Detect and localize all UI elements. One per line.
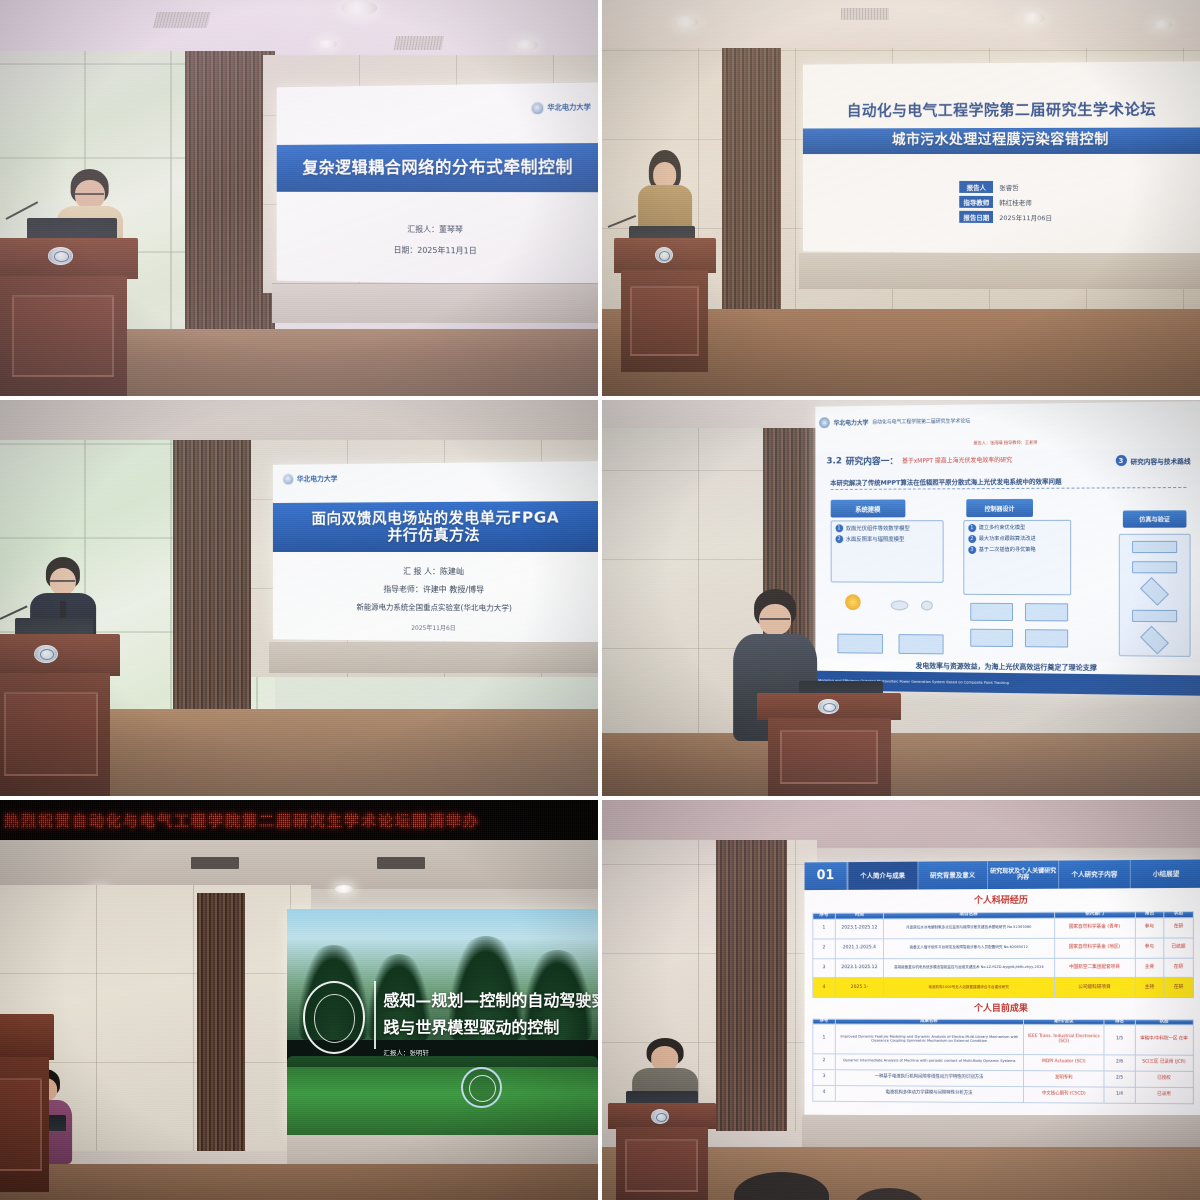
ceiling-vent-icon (393, 36, 443, 50)
cell-venue: IEEE Trans. Industrial Electronics (SCI) (1024, 1025, 1104, 1055)
glasses-icon (75, 193, 104, 195)
sun-icon (846, 594, 861, 610)
cell-rank: 1/4 (1104, 1086, 1135, 1102)
flow-node (1133, 561, 1178, 573)
presenter-name: 张明轩 (409, 1049, 429, 1057)
right-group-title: 仿真与验证 (1123, 510, 1187, 528)
flow-decision (1140, 625, 1169, 654)
slide-title-line2: 并行仿真方法 (387, 527, 480, 544)
header-forum-text: 自动化与电气工程学院第二届研究生学术论坛 (873, 418, 971, 426)
title-divider (374, 981, 376, 1049)
cell-time: 2025.1- (835, 978, 884, 998)
research-outputs-table: 序号 成果名称 期刊/会议 排名 状态 1 Improved Dynamic F… (813, 1018, 1194, 1104)
cell-time: 2021.1-2025.4 (835, 938, 884, 958)
nav-badge: 01 (805, 862, 848, 890)
th-role: 角色 (1135, 911, 1164, 917)
podium-panel (625, 1139, 698, 1192)
podium (608, 1103, 716, 1200)
research-projects-table: 序号 时间 项目名称 依托部门 角色 状态 1 2023.1-2025.12 月 (813, 911, 1194, 999)
podium-panel (0, 1078, 42, 1170)
section-badge: 3 (1116, 455, 1127, 466)
university-wordmark: 华北电力大学 (547, 103, 590, 114)
projection-screen: 自动化与电气工程学院第二届研究生学术论坛 城市污水处理过程膜污染容错控制 报告人… (803, 62, 1200, 255)
date-label: 日期： (394, 246, 418, 255)
cell-output-name: Improved Dynamic Feature Modeling and Dy… (835, 1024, 1024, 1054)
section-number: 3.2 (827, 456, 842, 466)
cloud-icon (921, 600, 933, 610)
nav-item-profile[interactable]: 个人简介与成果 (848, 861, 918, 889)
th-venue: 期刊/会议 (1024, 1019, 1104, 1025)
floor (602, 733, 1200, 796)
podium-panel (12, 295, 114, 377)
ceiling-vent-icon (191, 857, 239, 869)
podium (0, 1014, 54, 1192)
nav-item-status[interactable]: 研究现状及个人关键研究内容 (988, 860, 1059, 888)
photo-collage: 华北电力大学 复杂逻辑耦合网络的分布式牵制控制 汇报人：董琴琴 日期：2025年… (0, 0, 1200, 1200)
title-slide: 华北电力大学 面向双馈风电场站的发电单元FPGA 并行仿真方法 汇 报 人：陈建… (273, 461, 598, 643)
cell-project: 高端装备复杂机电系统多模态智能监控与运维关键技术 No.LZ-YSZD-bygj… (884, 958, 1054, 978)
affiliation-line: 新能源电力系统全国重点实验室(华北电力大学) (273, 601, 598, 614)
meta-value: 韩红桂老师 (1000, 197, 1033, 207)
lead-text: 本研究解决了传统MPPT算法在低辐照平原分散式海上光伏发电系统中的效率问题 (831, 475, 1187, 490)
cell-status: 已结题 (1164, 937, 1193, 957)
section-badge-text: 研究内容与技术路线 (1131, 455, 1191, 466)
bullet-number: 3 (968, 546, 976, 554)
cell-rank: 1/5 (1104, 1025, 1135, 1054)
university-seal-icon (531, 102, 544, 115)
bullet-text: 最大功率点跟踪算法改进 (979, 535, 1036, 542)
advisor-name: 许建中 教授/博导 (423, 585, 484, 594)
university-logo: 华北电力大学 (282, 473, 337, 485)
section-title: 研究内容一： (846, 454, 898, 467)
projection-screen: 01 个人简介与成果 研究背景及意义 研究现状及个人关键研究内容 个人研究子内容… (805, 859, 1200, 1116)
slide-title-band: 城市污水处理过程膜污染容错控制 (803, 127, 1200, 154)
cell-role: 参与 (1135, 917, 1164, 937)
presenter-label: 汇报人： (383, 1049, 409, 1057)
led-banner-text: 热烈祝贺自动化与电气工程学院第二届研究生学术论坛圆满举办 (0, 810, 480, 831)
cell-status: 已录用 (1135, 1087, 1193, 1104)
presenter-name: 董琴琴 (439, 225, 463, 234)
title-slide: 华北电力大学 复杂逻辑耦合网络的分布式牵制控制 汇报人：董琴琴 日期：2025年… (277, 83, 598, 286)
podium (757, 693, 901, 796)
flow-node (1133, 610, 1178, 622)
cell-status: 在研 (1164, 957, 1193, 977)
header-presenter-text: 报告人：张雨晴 指导教师：王老师 (974, 440, 1038, 447)
cell-index: 4 (813, 978, 835, 998)
cell-status: 在研 (1164, 917, 1193, 937)
university-wordmark: 华北电力大学 (297, 474, 338, 484)
bullet-number: 1 (968, 524, 976, 532)
wood-slat-column (197, 893, 245, 1152)
section-heading: 3.2 研究内容一： 基于xMPPT 提高上海光伏发电效率的研究 (827, 453, 1013, 467)
bullet-item: 2水面反照率与辐照度模型 (835, 535, 939, 543)
cell-status: 审稿中/中科院一区 在审 (1135, 1025, 1193, 1055)
screen-base-panel (799, 253, 1200, 289)
downlight-icon (335, 885, 353, 893)
cell-time: 2023.1-2025.12 (835, 958, 884, 978)
bullet-text: 水面反照率与辐照度模型 (846, 535, 905, 543)
table-row: 1 Improved Dynamic Feature Modeling and … (813, 1024, 1193, 1054)
wood-slat-column (185, 51, 275, 356)
cell-rank: 2/6 (1104, 1054, 1135, 1070)
ceiling-vent-icon (153, 12, 211, 28)
diagram-node (971, 603, 1013, 621)
cell-project: 电液机构1000号无人站数据建模综合平台建设研究 (884, 978, 1054, 998)
date-value: 2025年11月1日 (417, 246, 477, 256)
cell-index: 4 (813, 1085, 835, 1101)
wood-slat-column (722, 48, 782, 313)
cell-rank: 2/5 (1104, 1070, 1135, 1086)
downlight-icon (341, 0, 377, 16)
photo-title-slide: 感知—规划—控制的自动驾驶实 践与世界模型驱动的控制 汇报人：张明轩 (287, 909, 598, 1135)
podium-emblem-icon (818, 699, 840, 713)
header-logo-text: 华北电力大学 (834, 418, 869, 427)
forum-header: 自动化与电气工程学院第二届研究生学术论坛 (803, 98, 1200, 121)
cell-venue: 中文核心期刊 (CSCD) (1024, 1086, 1104, 1103)
presenter-line: 汇报人：张明轩 (383, 1047, 429, 1057)
university-logo: 华北电力大学 (531, 101, 591, 115)
table2-title: 个人目前成果 (805, 1000, 1200, 1013)
bullet-item: 2最大功率点跟踪算法改进 (968, 534, 1067, 542)
table-row: 1 2023.1-2025.12 月面原位水冰电解制氧多点位监测与故障诊断关键技… (813, 917, 1193, 938)
panel-5-bottom-left: 热烈祝贺自动化与电气工程学院第二届研究生学术论坛圆满举办 感知—规划—控制的自动… (0, 800, 598, 1200)
head (651, 1046, 679, 1070)
downlight-icon (1021, 12, 1045, 24)
cell-index: 1 (813, 918, 835, 938)
cell-index: 2 (813, 1053, 835, 1069)
left-group-title: 系统建模 (831, 500, 906, 517)
bullet-number: 2 (835, 535, 843, 543)
cell-department: 国家自然科学基金 (地区) (1055, 937, 1136, 957)
table-row-highlighted: 4 2025.1- 电液机构1000号无人站数据建模综合平台建设研究 公司级科研… (813, 977, 1193, 997)
cell-index: 3 (813, 958, 835, 978)
section-badge-group: 3 研究内容与技术路线 (1116, 454, 1191, 466)
screen-base-panel (272, 283, 598, 323)
th-status: 状态 (1164, 911, 1193, 917)
led-banner: 热烈祝贺自动化与电气工程学院第二届研究生学术论坛圆满举办 (0, 800, 598, 840)
title-slide: 自动化与电气工程学院第二届研究生学术论坛 城市污水处理过程膜污染容错控制 报告人… (803, 62, 1200, 255)
lawn (287, 1067, 598, 1135)
cell-role: 主持 (1135, 977, 1164, 997)
wood-slat-column (173, 440, 251, 725)
cloud-icon (891, 600, 909, 610)
th-time: 时间 (835, 913, 884, 919)
flow-node (1133, 541, 1178, 553)
th-index: 序号 (813, 1019, 835, 1025)
cell-role: 参与 (1135, 937, 1164, 957)
meta-value: 张睿哲 (1000, 182, 1019, 192)
meta-value: 2025年11月06日 (1000, 212, 1053, 222)
th-index: 序号 (813, 913, 835, 919)
podium-panel (630, 286, 699, 356)
diagram-node (1025, 604, 1068, 622)
meta-label: 报告日期 (960, 211, 994, 223)
presenter-line: 汇 报 人：陈建屾 (273, 566, 598, 578)
date-line: 日期：2025年11月1日 (277, 244, 598, 258)
table1-title: 个人科研经历 (805, 891, 1200, 906)
speaker-figure (638, 154, 692, 233)
projection-screen: 华北电力大学 复杂逻辑耦合网络的分布式牵制控制 汇报人：董琴琴 日期：2025年… (277, 83, 598, 286)
table-row: 2 2021.1-2025.4 装备无人值守软件平台研发及故障智能诊断与人员配置… (813, 937, 1193, 958)
table-slide: 01 个人简介与成果 研究背景及意义 研究现状及个人关键研究内容 个人研究子内容… (805, 859, 1200, 1116)
slide-title-line1: 感知—规划—控制的自动驾驶实 (383, 991, 598, 1011)
glasses-icon (50, 580, 75, 582)
advisor-line: 指导老师：许建中 教授/博导 (273, 584, 598, 597)
podium-emblem-icon (48, 247, 73, 264)
cell-status: 在研 (1164, 977, 1193, 997)
meta-label: 指导教师 (960, 196, 994, 208)
floor (0, 1164, 598, 1200)
cell-output-name: 一种基于电液执行机构间隙非线性动力学特性的识别方法 (835, 1069, 1024, 1086)
nav-item-subcontent[interactable]: 个人研究子内容 (1059, 860, 1130, 889)
bullet-number: 1 (835, 524, 843, 532)
presenter-label: 汇 报 人： (403, 568, 440, 577)
bullet-item: 3基于二次插值的寻优策略 (968, 546, 1067, 554)
led-video-wall: 感知—规划—控制的自动驾驶实 践与世界模型驱动的控制 汇报人：张明轩 (287, 909, 598, 1135)
table-row: 4 电液机构多体动力学建模与间隙特性分析方法 中文核心期刊 (CSCD) 1/4… (813, 1085, 1193, 1103)
podium-panel (780, 730, 878, 784)
cell-venue: 发明专利 (1024, 1070, 1104, 1087)
slide-meta-block: 报告人 张睿哲 指导教师 韩红桂老师 报告日期 2025年11月06日 (960, 181, 1052, 226)
bullet-item: 1双面光伏组件等效数学模型 (835, 524, 939, 532)
cell-department: 国家自然科学基金 (青年) (1055, 917, 1136, 937)
panel-1-top-left: 华北电力大学 复杂逻辑耦合网络的分布式牵制控制 汇报人：董琴琴 日期：2025年… (0, 0, 598, 396)
th-department: 依托部门 (1055, 911, 1136, 917)
diagram-node (898, 634, 944, 654)
meta-row: 指导教师 韩红桂老师 (960, 196, 1052, 208)
meta-row: 报告日期 2025年11月06日 (960, 211, 1052, 223)
projection-screen: 华北电力大学 面向双馈风电场站的发电单元FPGA 并行仿真方法 汇 报 人：陈建… (273, 461, 598, 643)
ceiling-vent-icon (841, 8, 889, 20)
flowchart-box (1119, 534, 1191, 658)
date-line: 2025年11月6日 (273, 622, 598, 634)
downlight-icon (674, 16, 698, 28)
section-subtitle: 基于xMPPT 提高上海光伏发电效率的研究 (902, 455, 1012, 465)
cell-status: 已授权 (1135, 1070, 1193, 1087)
cell-department: 公司级科研项目 (1055, 977, 1136, 997)
flow-decision (1140, 577, 1169, 606)
meta-label: 报告人 (960, 181, 994, 193)
presenter-name: 陈建屾 (440, 568, 464, 577)
slide-title: 复杂逻辑耦合网络的分布式牵制控制 (302, 159, 573, 178)
cell-index: 3 (813, 1069, 835, 1085)
meta-row: 报告人 张睿哲 (960, 181, 1052, 193)
presenter-line: 汇报人：董琴琴 (277, 223, 598, 236)
wood-slat-column (716, 840, 788, 1131)
secondary-seal-icon (461, 1067, 501, 1108)
diagram-node (838, 634, 883, 654)
nav-item-summary[interactable]: 小结展望 (1130, 859, 1200, 888)
mid-group-box: 1建立多约束优化模型 2最大功率点跟踪算法改进 3基于二次插值的寻优策略 (963, 519, 1072, 595)
cell-status: SCI三区 已录用 (JCR) (1135, 1054, 1193, 1070)
table-row: 3 一种基于电液执行机构间隙非线性动力学特性的识别方法 发明专利 2/5 已授权 (813, 1069, 1193, 1087)
ceiling-vent-icon (377, 857, 425, 869)
bullet-text: 建立多约束优化模型 (979, 524, 1025, 531)
table-row: 2 Dynamic Intermediate Analysis of Machi… (813, 1053, 1193, 1071)
podium-top (0, 634, 120, 676)
podium-emblem-icon (655, 247, 673, 263)
slide-navbar: 01 个人简介与成果 研究背景及意义 研究现状及个人关键研究内容 个人研究子内容… (805, 859, 1200, 890)
cell-project: 装备无人值守软件平台研发及故障智能诊断与人员配置研究 No.62065012 (884, 938, 1054, 958)
podium (0, 634, 120, 796)
slide-title-band: 复杂逻辑耦合网络的分布式牵制控制 (277, 144, 598, 193)
university-seal-icon (819, 418, 830, 429)
cell-index: 2 (813, 938, 835, 958)
cell-output-name: Dynamic Intermediate Analysis of Machine… (835, 1053, 1024, 1070)
university-seal-icon (282, 474, 294, 486)
panel-3-middle-left: 华北电力大学 面向双馈风电场站的发电单元FPGA 并行仿真方法 汇 报 人：陈建… (0, 400, 598, 796)
slide-title-band: 面向双馈风电场站的发电单元FPGA 并行仿真方法 (273, 502, 598, 553)
glasses-icon (760, 618, 790, 620)
cell-project: 月面原位水冰电解制氧多点位监测与故障诊断关键技术基础研究 No.52305060 (884, 918, 1054, 938)
nav-item-background[interactable]: 研究背景及意义 (917, 861, 987, 889)
bullet-number: 2 (968, 535, 976, 543)
podium (0, 238, 138, 396)
panel-6-bottom-right: 01 个人简介与成果 研究背景及意义 研究现状及个人关键研究内容 个人研究子内容… (602, 800, 1200, 1200)
bullet-text: 双面光伏组件等效数学模型 (846, 524, 910, 532)
cell-time: 2023.1-2025.12 (835, 918, 884, 938)
th-rank: 排名 (1104, 1019, 1135, 1025)
panel-2-top-right: 自动化与电气工程学院第二届研究生学术论坛 城市污水处理过程膜污染容错控制 报告人… (602, 0, 1200, 396)
table-row: 3 2023.1-2025.12 高端装备复杂机电系统多模态智能监控与运维关键技… (813, 957, 1193, 977)
diagram-node (971, 629, 1013, 647)
university-seal-icon (303, 981, 365, 1053)
diagram-node (1025, 630, 1068, 648)
ceiling (0, 840, 598, 888)
advisor-label: 指导老师： (383, 585, 423, 594)
podium-panel (4, 692, 98, 776)
podium-top (0, 1014, 54, 1060)
panel-4-middle-right: 华北电力大学 自动化与电气工程学院第二届研究生学术论坛 报告人：张雨晴 指导教师… (602, 400, 1200, 796)
cell-index: 1 (813, 1024, 835, 1053)
mid-group-title: 控制器设计 (967, 499, 1033, 517)
cell-output-name: 电液机构多体动力学建模与间隙特性分析方法 (835, 1085, 1024, 1102)
cell-venue: MDPI Actuator (SCI) (1024, 1054, 1104, 1070)
slide-title-line2: 践与世界模型驱动的控制 (383, 1018, 559, 1038)
slide-header-sub: 报告人：张雨晴 指导教师：王老师 (816, 434, 1200, 452)
bullet-item: 1建立多约束优化模型 (968, 523, 1067, 531)
presenter-label: 汇报人： (407, 225, 439, 234)
podium (614, 238, 716, 373)
cell-department: 中国航空二集团配套项目 (1055, 957, 1136, 977)
th-status: 状态 (1135, 1019, 1193, 1025)
podium-emblem-icon (34, 645, 57, 663)
slide-title: 城市污水处理过程膜污染容错控制 (892, 133, 1109, 149)
screen-base-panel (269, 642, 598, 674)
projection-screen: 华北电力大学 自动化与电气工程学院第二届研究生学术论坛 报告人：张雨晴 指导教师… (816, 401, 1200, 696)
bullet-text: 基于二次插值的寻优策略 (979, 546, 1036, 553)
content-slide: 华北电力大学 自动化与电气工程学院第二届研究生学术论坛 报告人：张雨晴 指导教师… (816, 401, 1200, 696)
cell-role: 主要 (1135, 957, 1164, 977)
downlight-icon (514, 40, 538, 50)
left-group-box: 1双面光伏组件等效数学模型 2水面反照率与辐照度模型 (831, 520, 944, 583)
